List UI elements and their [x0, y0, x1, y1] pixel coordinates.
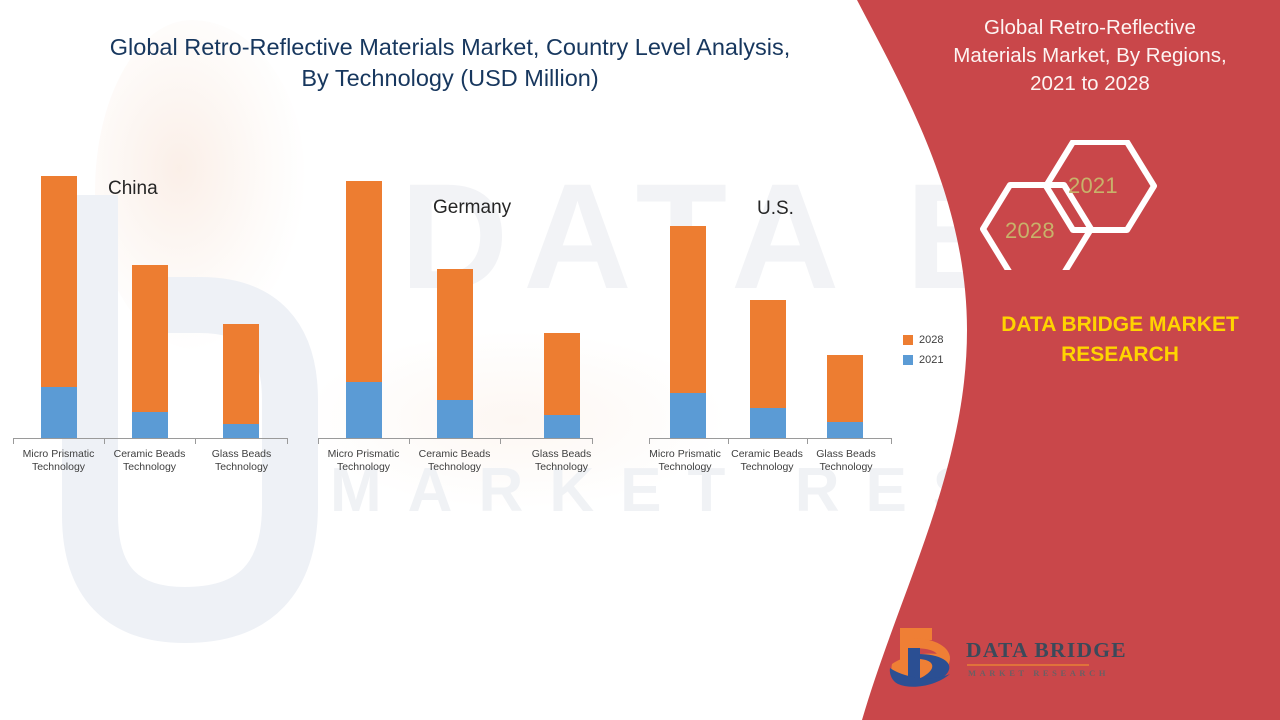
- brand-title: DATA BRIDGE MARKET RESEARCH: [960, 310, 1280, 370]
- hexagon-label-2021: 2021: [1068, 173, 1118, 199]
- bar-segment-2021: [223, 424, 259, 438]
- category-label-glass-beads: Glass Beads Technology: [806, 448, 886, 474]
- axis-tick: [592, 438, 593, 444]
- hexagon-outline-icons: [975, 140, 1205, 270]
- logo-name-text: DATA BRIDGE: [966, 638, 1127, 663]
- bar-germany-ceramic-beads[interactable]: [437, 269, 473, 438]
- axis-tick: [728, 438, 729, 444]
- category-label-micro-prismatic: Micro Prismatic Technology: [13, 448, 104, 474]
- axis-tick: [13, 438, 14, 444]
- category-label-micro-prismatic: Micro Prismatic Technology: [646, 448, 724, 474]
- axis-tick: [649, 438, 650, 444]
- bar-segment-2028: [670, 226, 706, 393]
- bar-segment-2021: [670, 393, 706, 438]
- bar-segment-2021: [41, 387, 77, 438]
- category-label-ceramic-beads: Ceramic Beads Technology: [728, 448, 806, 474]
- panel-title: Global Retro-Reflective Materials Market…: [930, 14, 1250, 98]
- group-label-germany: Germany: [433, 197, 511, 219]
- axis-tick: [287, 438, 288, 444]
- chart-title-line-1: Global Retro-Reflective Materials Market…: [60, 32, 840, 63]
- group-label-china: China: [108, 178, 158, 200]
- axis-line-us: [649, 438, 892, 439]
- category-label-glass-beads: Glass Beads Technology: [516, 448, 607, 474]
- bar-us-ceramic-beads[interactable]: [750, 300, 786, 438]
- axis-tick: [409, 438, 410, 444]
- bar-segment-2028: [346, 181, 382, 382]
- axis-tick: [195, 438, 196, 444]
- bar-us-micro-prismatic[interactable]: [670, 226, 706, 438]
- legend-swatch-icon-2028: [903, 335, 913, 345]
- axis-line-germany: [318, 438, 592, 439]
- bar-segment-2021: [132, 412, 168, 438]
- category-label-ceramic-beads: Ceramic Beads Technology: [409, 448, 500, 474]
- legend-item-2028[interactable]: 2028: [903, 330, 943, 350]
- bar-segment-2021: [437, 400, 473, 438]
- bar-germany-glass-beads[interactable]: [544, 333, 580, 438]
- hexagon-label-2028: 2028: [1005, 218, 1055, 244]
- bar-china-ceramic-beads[interactable]: [132, 265, 168, 438]
- group-label-us: U.S.: [757, 198, 794, 220]
- watermark-b-logo-icon: [35, 185, 365, 655]
- legend-swatch-icon-2021: [903, 355, 913, 365]
- category-label-ceramic-beads: Ceramic Beads Technology: [104, 448, 195, 474]
- bar-segment-2021: [544, 415, 580, 438]
- axis-tick: [104, 438, 105, 444]
- category-label-micro-prismatic: Micro Prismatic Technology: [318, 448, 409, 474]
- bar-segment-2028: [41, 176, 77, 387]
- bar-germany-micro-prismatic[interactable]: [346, 181, 382, 438]
- brand-title-line-2: RESEARCH: [960, 340, 1280, 370]
- data-bridge-logo-mark-icon: [888, 624, 966, 690]
- bar-china-glass-beads[interactable]: [223, 324, 259, 438]
- axis-tick: [807, 438, 808, 444]
- brand-title-line-1: DATA BRIDGE MARKET: [960, 310, 1280, 340]
- bar-china-micro-prismatic[interactable]: [41, 176, 77, 438]
- legend-label-2021: 2021: [919, 354, 943, 366]
- bar-segment-2021: [750, 408, 786, 438]
- company-logo[interactable]: DATA BRIDGE MARKET RESEARCH: [888, 624, 1103, 700]
- legend-label-2028: 2028: [919, 334, 943, 346]
- bar-segment-2028: [223, 324, 259, 424]
- axis-tick: [500, 438, 501, 444]
- bar-segment-2028: [544, 333, 580, 415]
- category-label-glass-beads: Glass Beads Technology: [196, 448, 287, 474]
- logo-divider: [967, 664, 1089, 666]
- axis-line-china: [13, 438, 288, 439]
- hexagon-badges: 2021 2028: [975, 140, 1205, 270]
- chart-title-line-2: By Technology (USD Million): [60, 63, 840, 94]
- axis-tick: [318, 438, 319, 444]
- bar-segment-2028: [750, 300, 786, 408]
- legend-item-2021[interactable]: 2021: [903, 350, 943, 370]
- bar-segment-2028: [437, 269, 473, 400]
- bar-us-glass-beads[interactable]: [827, 355, 863, 438]
- bar-segment-2028: [827, 355, 863, 422]
- bar-segment-2028: [132, 265, 168, 412]
- panel-title-line-1: Global Retro-Reflective: [930, 14, 1250, 42]
- logo-tagline-text: MARKET RESEARCH: [968, 668, 1109, 678]
- panel-title-line-2: Materials Market, By Regions,: [930, 42, 1250, 70]
- chart-title: Global Retro-Reflective Materials Market…: [60, 32, 840, 94]
- axis-tick: [891, 438, 892, 444]
- bar-segment-2021: [346, 382, 382, 438]
- infographic-canvas: DATA BRIDGE MARKET RESEARCH Global Retro…: [0, 0, 1280, 720]
- chart-legend: 2028 2021: [903, 330, 943, 370]
- bar-segment-2021: [827, 422, 863, 438]
- panel-title-line-3: 2021 to 2028: [930, 70, 1250, 98]
